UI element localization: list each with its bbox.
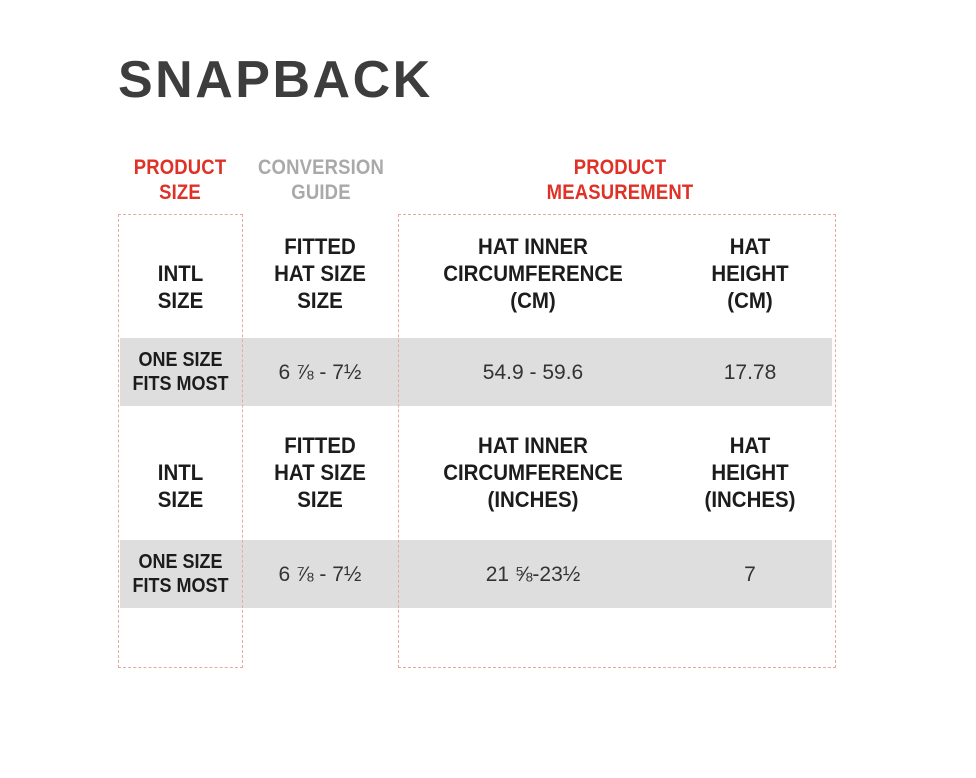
- caption-product-measurement-line1: PRODUCT: [467, 155, 773, 180]
- header-circumference-cm: HAT INNER CIRCUMFERENCE (CM): [409, 233, 656, 314]
- header-circumference-inches-l2: CIRCUMFERENCE: [409, 459, 656, 486]
- caption-product-measurement: PRODUCT MEASUREMENT: [467, 155, 773, 205]
- header-intl-size-metric: INTL SIZE: [122, 260, 238, 314]
- header-fitted-metric-l3: SIZE: [251, 287, 389, 314]
- header-circumference-cm-l1: HAT INNER: [409, 233, 656, 260]
- header-circumference-cm-l2: CIRCUMFERENCE: [409, 260, 656, 287]
- header-intl-size-metric-l2: SIZE: [122, 287, 238, 314]
- table-row-imperial-fitted-hat-size: 6 ⅞ - 7½: [246, 562, 394, 587]
- header-intl-size-imperial: INTL SIZE: [122, 459, 238, 513]
- table-row-metric-intl-size: ONE SIZE FITS MOST: [124, 348, 237, 396]
- header-intl-size-imperial-l2: SIZE: [122, 486, 238, 513]
- header-hat-height-inches-l1: HAT: [672, 432, 828, 459]
- header-hat-height-cm-l3: (CM): [672, 287, 828, 314]
- header-fitted-metric-l2: HAT SIZE: [251, 260, 389, 287]
- table-row-imperial-circumference: 21 ⅝-23½: [400, 562, 666, 587]
- caption-conversion-guide: CONVERSION GUIDE: [255, 155, 387, 205]
- caption-conversion-guide-line2: GUIDE: [255, 180, 387, 205]
- header-fitted-imperial-l2: HAT SIZE: [251, 459, 389, 486]
- header-fitted-metric-l1: FITTED: [251, 233, 389, 260]
- table-row-metric-circumference: 54.9 - 59.6: [400, 360, 666, 385]
- header-fitted-imperial-l1: FITTED: [251, 432, 389, 459]
- header-intl-size-metric-l1: INTL: [122, 260, 238, 287]
- table-row-metric-fitted-hat-size: 6 ⅞ - 7½: [246, 360, 394, 385]
- table-row-imperial-intl-size: ONE SIZE FITS MOST: [124, 550, 237, 598]
- imperial-intl-size-l2: FITS MOST: [124, 574, 237, 598]
- metric-intl-size-l1: ONE SIZE: [124, 348, 237, 372]
- caption-product-measurement-line2: MEASUREMENT: [467, 180, 773, 205]
- caption-product-size: PRODUCT SIZE: [120, 155, 240, 205]
- size-chart-page: SNAPBACK PRODUCT SIZE CONVERSION GUIDE P…: [0, 0, 976, 778]
- header-circumference-inches-l3: (INCHES): [409, 486, 656, 513]
- table-row-metric-height: 17.78: [666, 360, 834, 385]
- metric-intl-size-l2: FITS MOST: [124, 372, 237, 396]
- table-row-imperial-height: 7: [666, 562, 834, 587]
- header-hat-height-inches-l3: (INCHES): [672, 486, 828, 513]
- header-fitted-imperial-l3: SIZE: [251, 486, 389, 513]
- header-hat-height-inches-l2: HEIGHT: [672, 459, 828, 486]
- header-hat-height-cm-l1: HAT: [672, 233, 828, 260]
- header-intl-size-imperial-l1: INTL: [122, 459, 238, 486]
- header-hat-height-inches: HAT HEIGHT (INCHES): [672, 432, 828, 513]
- header-circumference-inches: HAT INNER CIRCUMFERENCE (INCHES): [409, 432, 656, 513]
- header-hat-height-cm: HAT HEIGHT (CM): [672, 233, 828, 314]
- caption-product-size-line1: PRODUCT: [120, 155, 240, 180]
- header-fitted-hat-size-imperial: FITTED HAT SIZE SIZE: [251, 432, 389, 513]
- header-circumference-inches-l1: HAT INNER: [409, 432, 656, 459]
- caption-product-size-line2: SIZE: [120, 180, 240, 205]
- page-title: SNAPBACK: [118, 54, 433, 106]
- header-circumference-cm-l3: (CM): [409, 287, 656, 314]
- header-fitted-hat-size-metric: FITTED HAT SIZE SIZE: [251, 233, 389, 314]
- caption-conversion-guide-line1: CONVERSION: [255, 155, 387, 180]
- header-hat-height-cm-l2: HEIGHT: [672, 260, 828, 287]
- imperial-intl-size-l1: ONE SIZE: [124, 550, 237, 574]
